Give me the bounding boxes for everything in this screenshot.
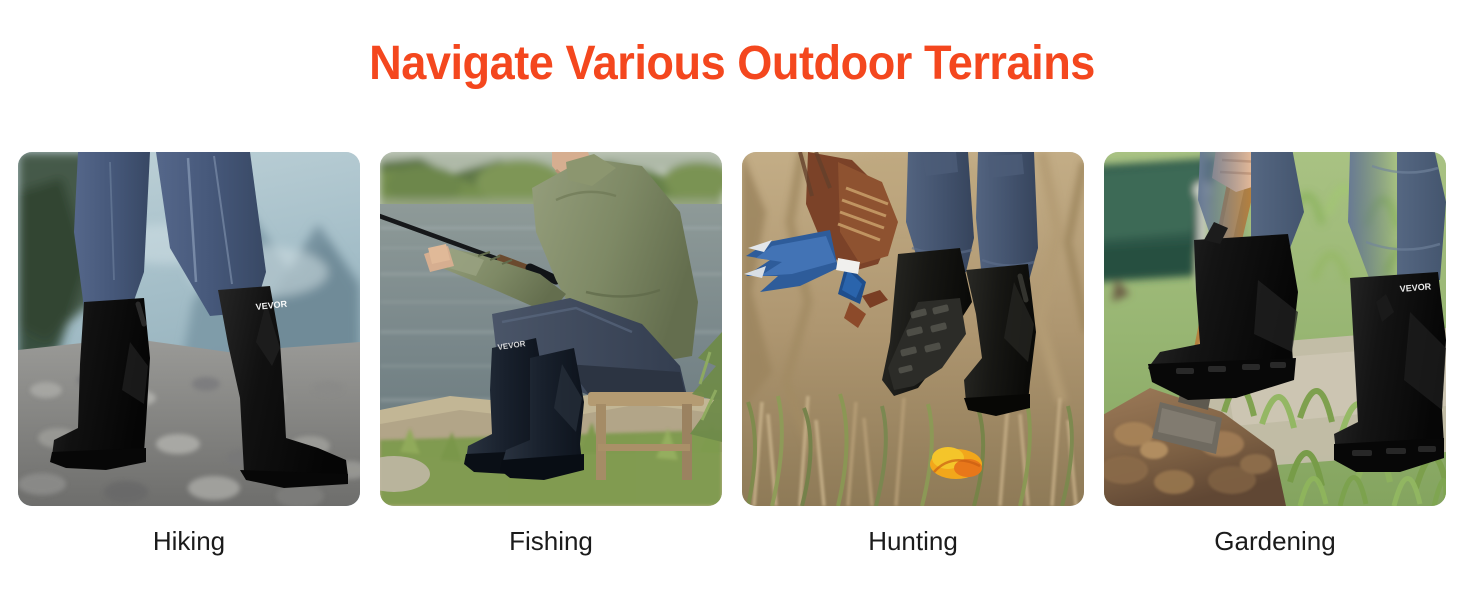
page-title: Navigate Various Outdoor Terrains xyxy=(44,36,1420,92)
caption-row: Hiking Fishing Hunting Gardening xyxy=(18,521,1446,565)
hiking-illustration: VEVOR xyxy=(18,152,360,506)
caption-hunting: Hunting xyxy=(742,521,1084,565)
scene-card-hunting[interactable] xyxy=(742,152,1084,506)
fishing-illustration: VEVOR xyxy=(380,152,722,506)
scene-card-hiking[interactable]: VEVOR xyxy=(18,152,360,506)
scene-card-row: VEVOR xyxy=(18,152,1446,506)
caption-hiking: Hiking xyxy=(18,521,360,565)
scene-card-gardening[interactable]: VEVOR xyxy=(1104,152,1446,506)
gardening-illustration: VEVOR xyxy=(1104,152,1446,506)
scene-card-fishing[interactable]: VEVOR xyxy=(380,152,722,506)
caption-fishing: Fishing xyxy=(380,521,722,565)
caption-gardening: Gardening xyxy=(1104,521,1446,565)
promo-banner: Navigate Various Outdoor Terrains xyxy=(0,0,1464,600)
hunting-illustration xyxy=(742,152,1084,506)
